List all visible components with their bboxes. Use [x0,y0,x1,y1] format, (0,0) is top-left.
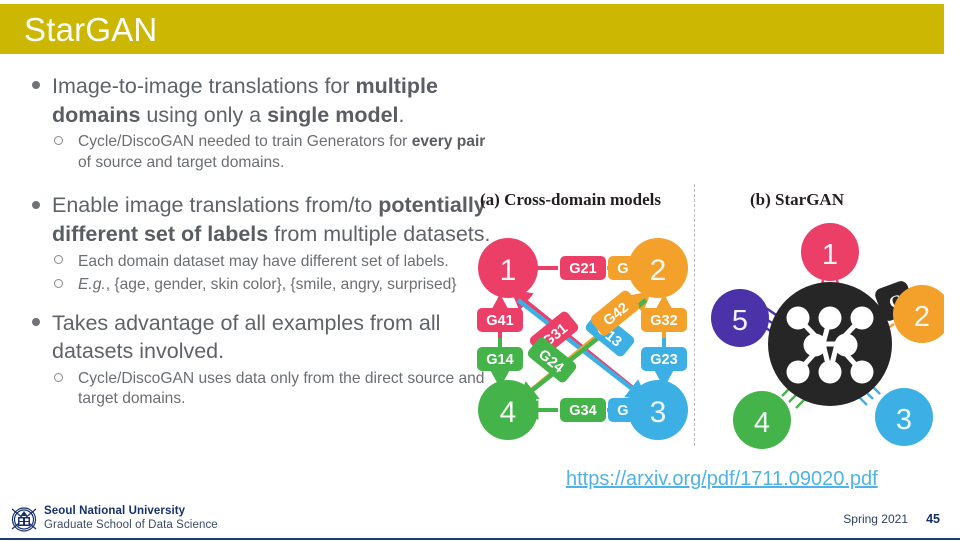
figure-graphics: G31 G13 G42 G24 G21 [462,182,944,450]
footer-divider [0,538,960,540]
svg-text:5: 5 [732,305,748,337]
page-number: 45 [926,512,940,526]
svg-text:G32: G32 [650,313,677,329]
subbullet-marker [22,369,78,390]
domain-node-3: 3 [628,380,688,440]
svg-text:4: 4 [500,396,517,429]
domain-node-3: 3 [875,388,933,446]
subbullet-text: Cycle/DiscoGAN needed to train Generator… [78,132,492,173]
generator-G34: G34 [560,398,606,422]
generator-G32: G32 [641,308,687,332]
svg-text:G14: G14 [486,352,513,368]
generator-G41: G41 [477,308,523,332]
stargan-diagram: G [711,223,944,449]
slide: StarGAN Image-to-image translations for … [0,0,960,542]
slide-term: Spring 2021 [843,512,908,526]
subbullet-marker [22,252,78,273]
bullet-list: Image-to-image translations for multiple… [22,72,492,410]
svg-text:1: 1 [500,254,517,287]
svg-text:G23: G23 [650,352,677,368]
stargan-figure: (a) Cross-domain models (b) StarGAN [462,182,944,450]
subbullet-each-domain: Each domain dataset may have different s… [22,252,492,273]
svg-text:3: 3 [896,404,912,436]
subbullet-cycle-discogan: Cycle/DiscoGAN needed to train Generator… [22,132,492,173]
bullet-marker [22,191,52,220]
domain-node-1: 1 [801,223,859,281]
subbullet-examples: E.g., {age, gender, skin color}, {smile,… [22,275,492,296]
bullet-text: Enable image translations from/to potent… [52,191,492,248]
organization: Seoul National University Graduate Schoo… [44,504,218,532]
svg-text:1: 1 [822,239,838,271]
slide-footer: Seoul National University Graduate Schoo… [0,500,960,538]
svg-text:4: 4 [754,407,770,439]
subbullet-marker [22,132,78,153]
cross-domain-diagram: G31 G13 G42 G24 G21 [477,238,688,440]
svg-text:3: 3 [650,396,667,429]
domain-node-5: 5 [711,289,769,347]
svg-text:G21: G21 [569,261,596,277]
subbullet-text: Cycle/DiscoGAN uses data only from the d… [78,369,492,410]
generator-core [768,282,892,406]
bullet-text: Takes advantage of all examples from all… [52,309,492,366]
slide-title-bar: StarGAN [0,4,944,54]
domain-node-2: 2 [628,238,688,298]
domain-node-4: 4 [478,380,538,440]
bullet-marker [22,72,52,101]
snu-logo-icon [8,504,40,534]
svg-text:2: 2 [650,254,667,287]
generator-G14: G14 [477,347,523,371]
domain-node-4: 4 [733,391,791,449]
bullet-marker [22,309,52,338]
subbullet-text: E.g., {age, gender, skin color}, {smile,… [78,275,492,296]
subbullet-direct-source: Cycle/DiscoGAN uses data only from the d… [22,369,492,410]
org-school: Graduate School of Data Science [44,518,218,532]
paper-link[interactable]: https://arxiv.org/pdf/1711.09020.pdf [566,468,878,491]
bullet-enable-translations: Enable image translations from/to potent… [22,191,492,248]
generator-G21: G21 [560,256,606,280]
domain-node-1: 1 [478,238,538,298]
org-name: Seoul National University [44,504,218,518]
svg-text:G41: G41 [486,313,513,329]
subbullet-text: Each domain dataset may have different s… [78,252,492,273]
bullet-text: Image-to-image translations for multiple… [52,72,492,129]
svg-text:G34: G34 [569,403,596,419]
subbullet-marker [22,275,78,296]
bullet-multiple-domains: Image-to-image translations for multiple… [22,72,492,129]
bullet-takes-advantage: Takes advantage of all examples from all… [22,309,492,366]
svg-text:2: 2 [914,301,930,333]
generator-G23: G23 [641,347,687,371]
page-title: StarGAN [0,13,157,46]
